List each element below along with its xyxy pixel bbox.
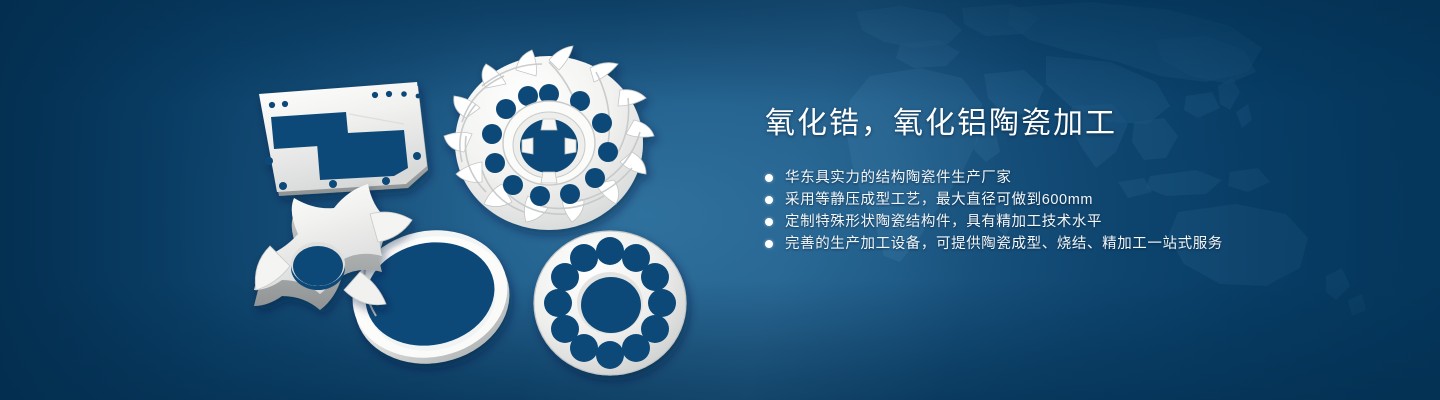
feature-text: 华东具实力的结构陶瓷件生产厂家 [785,167,1012,189]
feature-text: 采用等静压成型工艺，最大直径可做到600mm [785,189,1093,211]
list-item: 采用等静压成型工艺，最大直径可做到600mm [765,189,1385,211]
ceramic-flat-plate [259,82,428,196]
feature-text: 定制特殊形状陶瓷结构件，具有精加工技术水平 [785,211,1102,233]
promotional-banner: 氧化锆，氧化铝陶瓷加工 华东具实力的结构陶瓷件生产厂家 采用等静压成型工艺，最大… [0,0,1440,400]
feature-text: 完善的生产加工设备，可提供陶瓷成型、烧结、精加工一站式服务 [785,233,1223,255]
list-item: 完善的生产加工设备，可提供陶瓷成型、烧结、精加工一站式服务 [765,233,1385,255]
product-image-cluster [0,0,760,400]
ceramic-perforated-disc [534,231,686,375]
feature-list: 华东具实力的结构陶瓷件生产厂家 采用等静压成型工艺，最大直径可做到600mm 定… [765,167,1385,255]
bullet-dot-icon [765,174,773,182]
bullet-dot-icon [765,196,773,204]
bullet-dot-icon [765,240,773,248]
list-item: 华东具实力的结构陶瓷件生产厂家 [765,167,1385,189]
page-title: 氧化锆，氧化铝陶瓷加工 [765,104,1385,144]
list-item: 定制特殊形状陶瓷结构件，具有精加工技术水平 [765,211,1385,233]
banner-copy: 氧化锆，氧化铝陶瓷加工 华东具实力的结构陶瓷件生产厂家 采用等静压成型工艺，最大… [765,104,1385,255]
bullet-dot-icon [765,218,773,226]
ceramic-impeller-rotor [444,46,654,230]
